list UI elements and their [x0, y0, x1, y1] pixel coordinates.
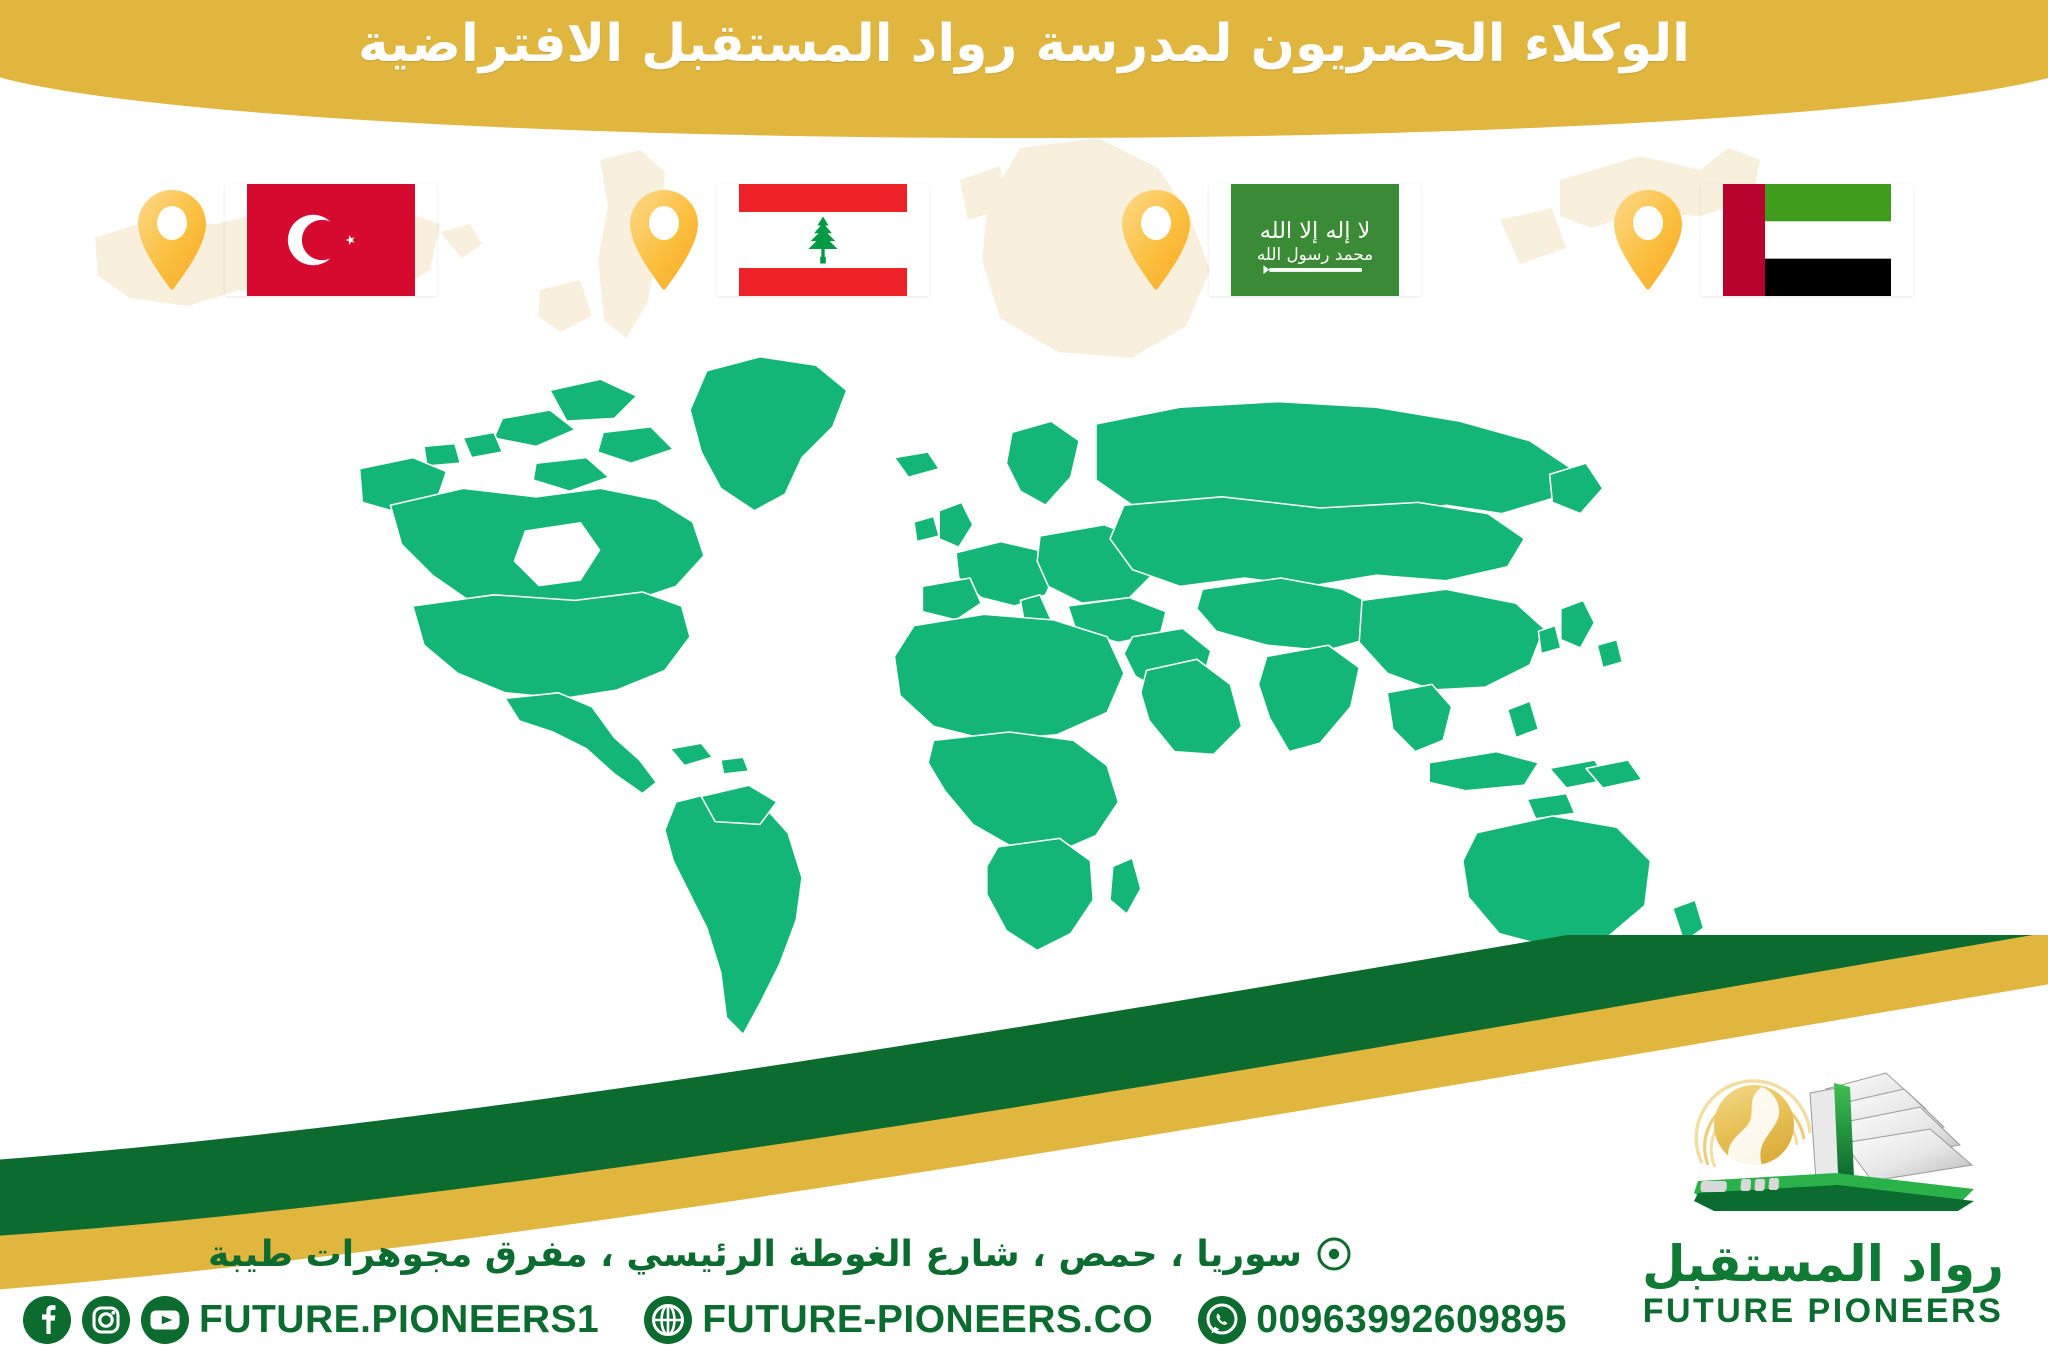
location-pin-icon: [627, 188, 701, 293]
poster: الوكلاء الحصريون لمدرسة رواد المستقبل ال…: [0, 0, 2048, 1365]
address-text: سوريا ، حمص ، شارع الغوطة الرئيسي ، مفرق…: [208, 1234, 1302, 1275]
logo-english-name: FUTURE PIONEERS: [1628, 1293, 2018, 1330]
website-group[interactable]: FUTURE-PIONEERS.CO: [643, 1295, 1153, 1345]
phone-text: 00963992609895: [1256, 1298, 1567, 1342]
company-logo[interactable]: رواد المستقبل FUTURE PIONEERS: [1628, 1053, 2018, 1353]
globe-icon[interactable]: [643, 1295, 693, 1345]
address-line: سوريا ، حمص ، شارع الغوطة الرئيسي ، مفرق…: [0, 1226, 1560, 1282]
social-media-group[interactable]: FUTURE.PIONEERS1: [22, 1295, 599, 1345]
social-handle: FUTURE.PIONEERS1: [199, 1298, 599, 1342]
youtube-icon[interactable]: [140, 1295, 190, 1345]
open-book-flame-logo: [1658, 1053, 1988, 1243]
location-pin-icon: [1316, 1236, 1352, 1272]
instagram-icon[interactable]: [81, 1295, 131, 1345]
agent-country-flags: لا إله إلا الله محمد رسول الله: [0, 175, 2048, 305]
facebook-icon[interactable]: [22, 1295, 72, 1345]
contact-row: FUTURE.PIONEERS1 FUTURE-PIONEERS.CO 0096…: [22, 1288, 1642, 1352]
page-title: الوكلاء الحصريون لمدرسة رواد المستقبل ال…: [0, 14, 2048, 74]
turkey-flag: [225, 184, 437, 296]
saudi-arabia-flag: لا إله إلا الله محمد رسول الله: [1209, 184, 1421, 296]
website-text: FUTURE-PIONEERS.CO: [702, 1298, 1153, 1342]
lebanon-flag: [717, 184, 929, 296]
svg-text:لا إله إلا الله: لا إله إلا الله: [1260, 218, 1371, 244]
flag-item-saudi-arabia[interactable]: لا إله إلا الله محمد رسول الله: [1119, 184, 1421, 296]
location-pin-icon: [135, 188, 209, 293]
whatsapp-icon[interactable]: [1197, 1295, 1247, 1345]
flag-item-turkey[interactable]: [135, 184, 437, 296]
svg-text:محمد رسول الله: محمد رسول الله: [1257, 244, 1373, 264]
flag-item-uae[interactable]: [1611, 184, 1913, 296]
uae-flag: [1701, 184, 1913, 296]
logo-arabic-name: رواد المستقبل: [1628, 1239, 2018, 1289]
flag-item-lebanon[interactable]: [627, 184, 929, 296]
location-pin-icon: [1119, 188, 1193, 293]
phone-group[interactable]: 00963992609895: [1197, 1295, 1567, 1345]
location-pin-icon: [1611, 188, 1685, 293]
